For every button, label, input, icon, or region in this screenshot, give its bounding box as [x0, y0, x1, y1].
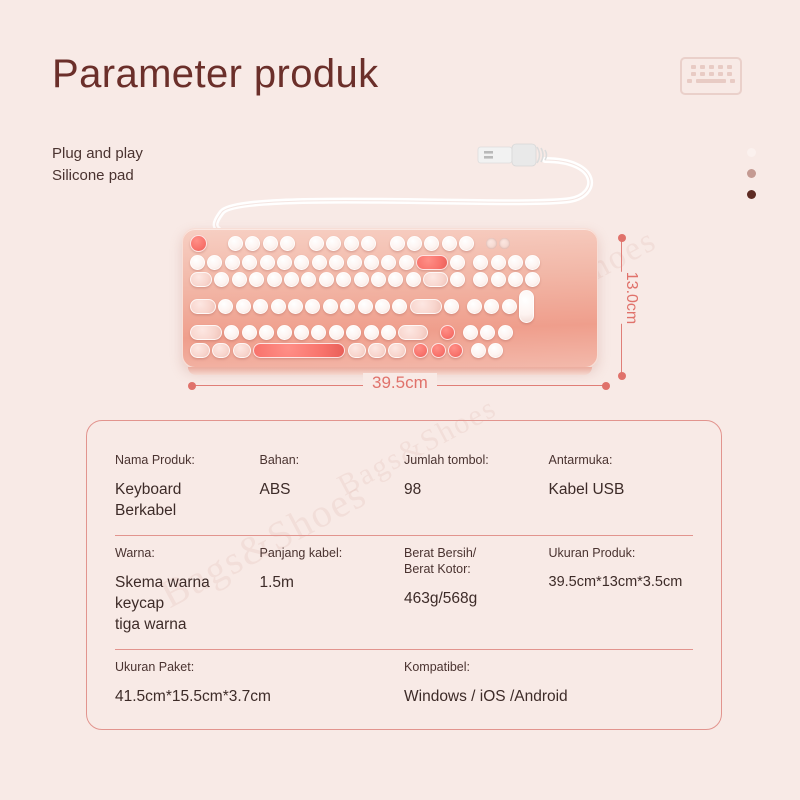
spec-value: 1.5m [260, 572, 399, 593]
key-backspace [416, 255, 448, 270]
key-arrow-down [431, 343, 446, 358]
spec-row: Warna: Skema warna keycap tiga warna Pan… [115, 536, 693, 650]
dot-light [747, 148, 756, 157]
spec-label: Ukuran Paket: [115, 659, 398, 675]
spec-cell: Berat Bersih/ Berat Kotor: 463g/568g [404, 536, 549, 649]
key-space [253, 343, 345, 358]
spec-label: Panjang kabel: [260, 545, 399, 561]
spec-label: Jumlah tombol: [404, 452, 543, 468]
key-shift-right [398, 325, 428, 340]
dot-mauve [747, 169, 756, 178]
spec-label: Antarmuka: [549, 452, 688, 468]
spec-label: Bahan: [260, 452, 399, 468]
spec-label: Ukuran Produk: [549, 545, 688, 561]
spec-label: Kompatibel: [404, 659, 687, 675]
spec-row: Ukuran Paket: 41.5cm*15.5cm*3.7cm Kompat… [115, 650, 693, 721]
spec-value: 463g/568g [404, 588, 543, 609]
key-arrow-up [440, 325, 455, 340]
key-fn [368, 343, 386, 358]
spec-cell: Antarmuka: Kabel USB [549, 443, 694, 535]
key-tab [190, 272, 212, 287]
decor-dots [747, 148, 756, 199]
usb-a-connector [478, 144, 547, 166]
spec-value: 39.5cm*13cm*3.5cm [549, 572, 688, 593]
key-shift-left [190, 325, 222, 340]
key-arrow-left [413, 343, 428, 358]
spec-cell: Ukuran Produk: 39.5cm*13cm*3.5cm [549, 536, 694, 649]
spec-cell: Kompatibel: Windows / iOS /Android [404, 650, 693, 721]
dimension-height-label: 13.0cm [615, 272, 647, 324]
dot-dark [747, 190, 756, 199]
spec-cell: Bahan: ABS [260, 443, 405, 535]
spec-panel: Nama Produk: Keyboard Berkabel Bahan: AB… [86, 420, 722, 730]
spec-cell: Panjang kabel: 1.5m [260, 536, 405, 649]
spec-label: Warna: [115, 545, 254, 561]
page-title: Parameter produk [52, 52, 379, 97]
key-caps-lock [190, 299, 216, 314]
tagline: Plug and play Silicone pad [52, 143, 143, 187]
product-spec-page: Bags&Shoes Bags&Shoes Bags&Shoes Paramet… [0, 0, 800, 800]
spec-value: 98 [404, 479, 543, 500]
key-alt-right [348, 343, 366, 358]
spec-value: ABS [260, 479, 399, 500]
spec-cell: Nama Produk: Keyboard Berkabel [115, 443, 260, 535]
spec-label: Berat Bersih/ Berat Kotor: [404, 545, 543, 577]
spec-value: Keyboard Berkabel [115, 479, 254, 521]
spec-cell: Warna: Skema warna keycap tiga warna [115, 536, 260, 649]
product-keyboard [182, 228, 598, 368]
led-indicator [486, 238, 497, 249]
key-enter [410, 299, 442, 314]
key-esc [190, 235, 207, 252]
keyboard-icon [680, 57, 742, 95]
key-arrow-right [448, 343, 463, 358]
key-ctrl-left [190, 343, 210, 358]
spec-label: Nama Produk: [115, 452, 254, 468]
led-indicator [499, 238, 510, 249]
spec-cell: Ukuran Paket: 41.5cm*15.5cm*3.7cm [115, 650, 404, 721]
key-win [212, 343, 230, 358]
tagline-line-2: Silicone pad [52, 165, 143, 187]
spec-cell: Jumlah tombol: 98 [404, 443, 549, 535]
spec-value: Kabel USB [549, 479, 688, 500]
tagline-line-1: Plug and play [52, 143, 143, 165]
key-alt-left [233, 343, 251, 358]
spec-row: Nama Produk: Keyboard Berkabel Bahan: AB… [115, 443, 693, 536]
key-ctrl-right [388, 343, 406, 358]
spec-value: 41.5cm*15.5cm*3.7cm [115, 686, 398, 707]
dimension-width-label: 39.5cm [363, 373, 437, 393]
spec-value: Skema warna keycap tiga warna [115, 572, 254, 635]
spec-value: Windows / iOS /Android [404, 686, 687, 707]
